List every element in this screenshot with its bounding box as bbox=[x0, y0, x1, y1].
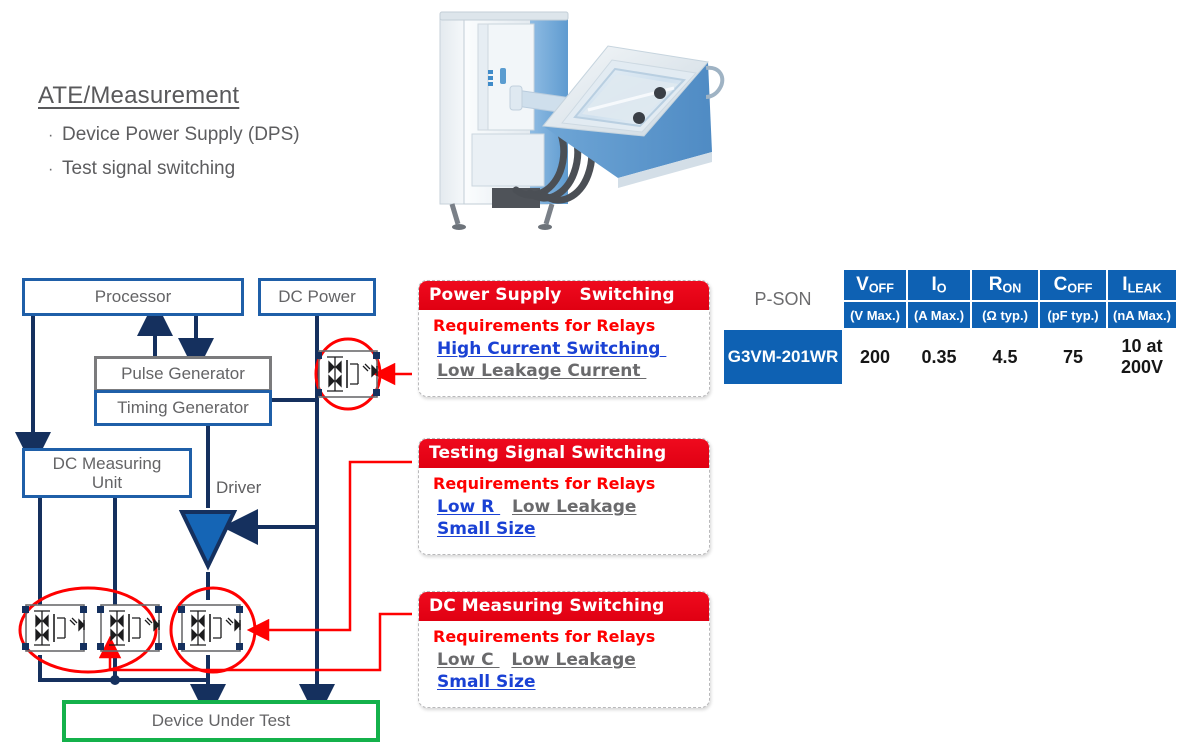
callout-header: DC Measuring Switching bbox=[419, 592, 709, 621]
driver-amplifier-symbol bbox=[178, 508, 238, 578]
requirement-row: High Current Switching bbox=[437, 339, 699, 360]
symbol-main: R bbox=[989, 274, 1003, 295]
block-device-under-test[interactable]: Device Under Test bbox=[62, 700, 380, 742]
requirement-row: Small Size bbox=[437, 672, 699, 693]
value-voff: 200 bbox=[844, 330, 906, 384]
requirement-tag[interactable]: Low Leakage Current bbox=[437, 361, 646, 381]
column-header-voff: VOFF bbox=[844, 270, 906, 300]
block-dc-measuring-unit[interactable]: DC Measuring Unit bbox=[22, 448, 192, 498]
requirements-label: Requirements for Relays bbox=[433, 627, 699, 646]
bullet-dot-icon: · bbox=[48, 127, 62, 145]
part-number-cell: G3VM-201WR bbox=[724, 330, 842, 384]
symbol-sub: LEAK bbox=[1128, 281, 1162, 295]
requirement-tag[interactable]: Low C bbox=[437, 650, 500, 670]
list-item-label: Test signal switching bbox=[62, 158, 235, 179]
callout-testing-signal-switching: Testing Signal Switching Requirements fo… bbox=[418, 438, 710, 555]
block-pulse-generator[interactable]: Pulse Generator bbox=[94, 356, 272, 392]
requirement-tag[interactable]: Small Size bbox=[437, 672, 536, 692]
block-label: Device Under Test bbox=[152, 711, 291, 730]
requirement-row: Low Leakage Current bbox=[437, 361, 699, 382]
column-header-ron: RON bbox=[972, 270, 1038, 300]
column-header-ileak: ILEAK bbox=[1108, 270, 1176, 300]
requirements-label: Requirements for Relays bbox=[433, 316, 699, 335]
symbol-main: C bbox=[1054, 274, 1068, 295]
relay-symbol bbox=[176, 602, 250, 660]
symbol-sub: ON bbox=[1002, 281, 1021, 295]
value-io: 0.35 bbox=[908, 330, 970, 384]
requirement-tag[interactable]: Low R bbox=[437, 497, 500, 517]
block-label: Timing Generator bbox=[117, 398, 249, 417]
column-unit-io: (A Max.) bbox=[908, 302, 970, 328]
spec-table: P-SON VOFF IO RON COFF ILEAK (V Max.) (A… bbox=[722, 268, 1178, 386]
requirement-tag[interactable]: Small Size bbox=[437, 519, 536, 539]
column-unit-coff: (pF typ.) bbox=[1040, 302, 1106, 328]
requirement-tag[interactable]: Low Leakage bbox=[511, 650, 635, 670]
requirement-row: Small Size bbox=[437, 519, 699, 540]
value-coff: 75 bbox=[1040, 330, 1106, 384]
block-processor[interactable]: Processor bbox=[22, 278, 244, 316]
list-item: ·Test signal switching bbox=[48, 158, 398, 180]
page-title: ATE/Measurement bbox=[38, 82, 398, 110]
package-label: P-SON bbox=[724, 270, 842, 328]
block-dc-power[interactable]: DC Power bbox=[258, 278, 376, 316]
ate-test-equipment-illustration bbox=[412, 2, 760, 234]
table-row-symbols: P-SON VOFF IO RON COFF ILEAK bbox=[724, 270, 1176, 300]
spec-table-grid: P-SON VOFF IO RON COFF ILEAK (V Max.) (A… bbox=[722, 268, 1178, 386]
driver-label: Driver bbox=[216, 478, 261, 498]
callout-header: Testing Signal Switching bbox=[419, 439, 709, 468]
block-label: DC Measuring Unit bbox=[53, 454, 162, 492]
system-block-diagram: Processor DC Power Pulse Generator Timin… bbox=[0, 250, 412, 752]
symbol-main: V bbox=[856, 274, 869, 295]
list-item: ·Device Power Supply (DPS) bbox=[48, 124, 398, 146]
symbol-sub: OFF bbox=[869, 281, 894, 295]
block-label: Processor bbox=[95, 287, 172, 306]
table-row: G3VM-201WR 200 0.35 4.5 75 10 at 200V bbox=[724, 330, 1176, 384]
requirement-tag[interactable]: Low Leakage bbox=[512, 497, 636, 517]
relay-symbol bbox=[95, 602, 169, 660]
bullet-dot-icon: · bbox=[48, 161, 62, 179]
block-timing-generator[interactable]: Timing Generator bbox=[94, 390, 272, 426]
requirement-row: Low R Low Leakage bbox=[437, 497, 699, 518]
column-unit-voff: (V Max.) bbox=[844, 302, 906, 328]
headline-block: ATE/Measurement ·Device Power Supply (DP… bbox=[38, 82, 398, 192]
feature-list: ·Device Power Supply (DPS) ·Test signal … bbox=[38, 124, 398, 180]
value-ileak: 10 at 200V bbox=[1108, 330, 1176, 384]
relay-symbol bbox=[313, 348, 387, 406]
requirement-tag[interactable]: High Current Switching bbox=[437, 339, 666, 359]
column-header-io: IO bbox=[908, 270, 970, 300]
symbol-sub: O bbox=[937, 281, 947, 295]
requirements-label: Requirements for Relays bbox=[433, 474, 699, 493]
column-header-coff: COFF bbox=[1040, 270, 1106, 300]
column-unit-ron: (Ω typ.) bbox=[972, 302, 1038, 328]
callout-header: Power Supply Switching bbox=[419, 281, 709, 310]
requirement-row: Low C Low Leakage bbox=[437, 650, 699, 671]
symbol-sub: OFF bbox=[1067, 281, 1092, 295]
relay-symbol bbox=[20, 602, 94, 660]
column-unit-ileak: (nA Max.) bbox=[1108, 302, 1176, 328]
callout-power-supply-switching: Power Supply Switching Requirements for … bbox=[418, 280, 710, 397]
callout-dc-measuring-switching: DC Measuring Switching Requirements for … bbox=[418, 591, 710, 708]
block-label: Pulse Generator bbox=[121, 364, 245, 383]
block-label: DC Power bbox=[278, 287, 355, 306]
list-item-label: Device Power Supply (DPS) bbox=[62, 124, 300, 145]
value-ron: 4.5 bbox=[972, 330, 1038, 384]
